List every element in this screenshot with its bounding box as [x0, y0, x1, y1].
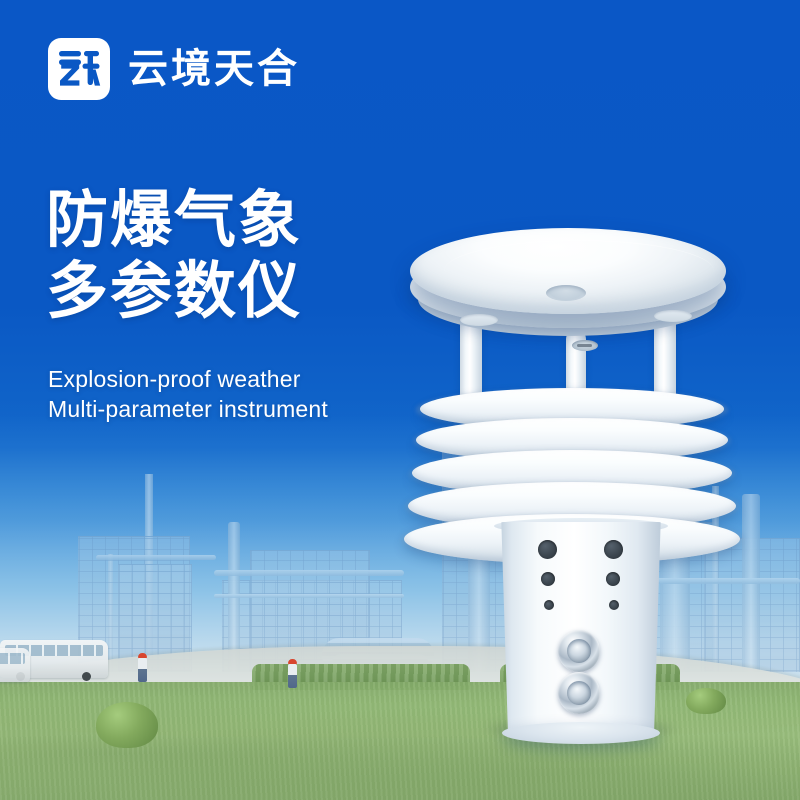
screw-slot — [577, 344, 592, 347]
headline-line-1: 防爆气象 — [46, 186, 302, 257]
vent-hole — [538, 540, 557, 559]
bus-wheel — [82, 672, 91, 681]
vent-hole — [604, 540, 623, 559]
vent-hole — [541, 572, 555, 586]
worker-body — [138, 658, 147, 682]
zr-monogram-logo-icon — [48, 38, 110, 100]
pipe-run — [96, 555, 216, 560]
worker — [288, 659, 297, 688]
brand-name: 云境天合 — [128, 49, 300, 89]
pipe-run — [214, 594, 404, 598]
optical-sensor-port — [558, 672, 600, 714]
subtitle: Explosion-proof weather Multi-parameter … — [48, 364, 328, 425]
ultrasonic-transducer — [460, 314, 498, 326]
ultrasonic-transducer — [654, 310, 692, 322]
worker-body — [288, 664, 297, 688]
headline-line-2: 多参数仪 — [46, 257, 302, 328]
bus-window — [0, 653, 25, 664]
optical-sensor-port — [558, 630, 600, 672]
shuttle-bus — [0, 648, 30, 682]
vent-hole — [606, 572, 620, 586]
vent-hole — [544, 600, 554, 610]
disc-center-dimple — [546, 285, 586, 301]
product-poster: 云境天合 防爆气象 多参数仪 Explosion-proof weather M… — [0, 0, 800, 800]
brand-logo[interactable]: 云境天合 — [48, 38, 300, 100]
worker — [138, 653, 147, 682]
ultrasonic-wind-disc — [410, 228, 726, 314]
subtitle-line-2: Multi-parameter instrument — [48, 394, 328, 424]
vent-hole — [609, 600, 619, 610]
subtitle-line-1: Explosion-proof weather — [48, 364, 328, 394]
product-image — [398, 222, 746, 742]
body-bottom-cap — [502, 722, 660, 744]
headline: 防爆气象 多参数仪 — [46, 186, 302, 327]
shrub — [96, 702, 158, 748]
disc-screw — [572, 340, 598, 351]
pipe-run — [214, 570, 404, 576]
